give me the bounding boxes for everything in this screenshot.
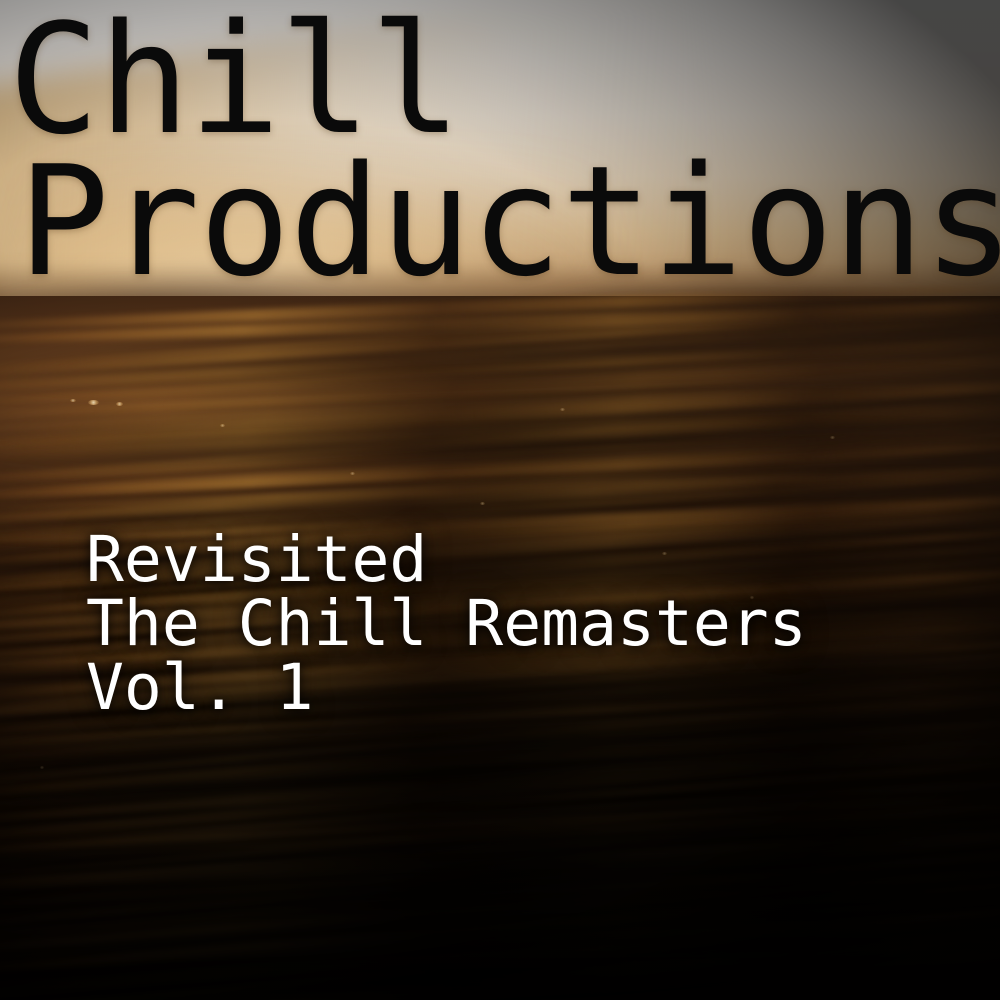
album-volume: Vol. 1 bbox=[86, 656, 314, 720]
brand-line-2: Productions bbox=[18, 148, 1000, 296]
album-title: Revisited bbox=[86, 528, 427, 592]
album-cover: Chill Productions Revisited The Chill Re… bbox=[0, 0, 1000, 1000]
brand-line-1: Chill bbox=[8, 6, 461, 154]
album-subtitle: The Chill Remasters bbox=[86, 592, 807, 656]
